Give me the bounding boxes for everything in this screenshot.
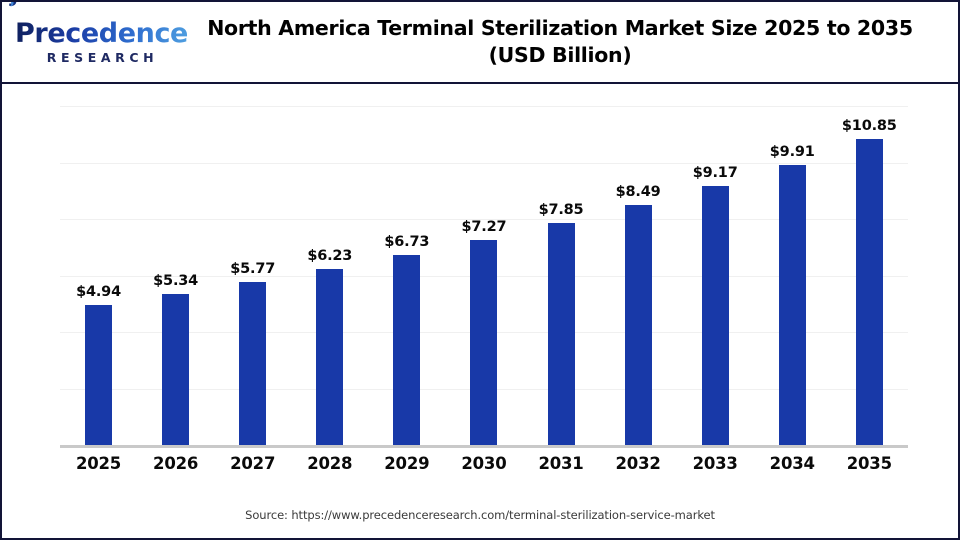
- chart-title: North America Terminal Sterilization Mar…: [188, 15, 932, 69]
- chart-footer: Source: https://www.precedenceresearch.c…: [2, 506, 958, 524]
- bar-value-label: $5.77: [230, 261, 275, 277]
- bar-value-label: $4.94: [76, 284, 121, 300]
- bar-2034[interactable]: [779, 165, 806, 445]
- bar-value-label: $5.34: [153, 273, 198, 289]
- x-axis-labels: 2025202620272028202920302031203220332034…: [60, 454, 908, 480]
- x-tick-2026: 2026: [137, 454, 214, 473]
- x-tick-2028: 2028: [291, 454, 368, 473]
- x-axis-line: [60, 445, 908, 448]
- bar-column[interactable]: $6.73: [368, 106, 445, 445]
- x-tick-2035: 2035: [831, 454, 908, 473]
- bar-column[interactable]: $9.17: [677, 106, 754, 445]
- chart-card: Precedence RESEARCH North America Termin…: [0, 0, 960, 540]
- bar-column[interactable]: $7.85: [523, 106, 600, 445]
- x-tick-2030: 2030: [445, 454, 522, 473]
- bar-value-label: $6.23: [307, 248, 352, 264]
- bar-2031[interactable]: [548, 223, 575, 445]
- bar-2032[interactable]: [625, 205, 652, 445]
- bar-column[interactable]: $5.34: [137, 106, 214, 445]
- plot-area: $4.94$5.34$5.77$6.23$6.73$7.27$7.85$8.49…: [60, 106, 908, 446]
- source-link[interactable]: Source: https://www.precedenceresearch.c…: [245, 508, 715, 522]
- logo-wordmark: Precedence: [8, 20, 188, 47]
- bar-column[interactable]: $4.94: [60, 106, 137, 445]
- x-tick-2025: 2025: [60, 454, 137, 473]
- bar-value-label: $9.91: [770, 144, 815, 160]
- bar-column[interactable]: $8.49: [600, 106, 677, 445]
- bar-2025[interactable]: [85, 305, 112, 445]
- precedence-research-logo: Precedence RESEARCH: [2, 20, 182, 65]
- bar-2035[interactable]: [856, 139, 883, 446]
- bar-2033[interactable]: [702, 186, 729, 445]
- bar-2027[interactable]: [239, 282, 266, 445]
- bar-2030[interactable]: [470, 240, 497, 445]
- bar-series: $4.94$5.34$5.77$6.23$6.73$7.27$7.85$8.49…: [60, 106, 908, 445]
- bar-column[interactable]: $6.23: [291, 106, 368, 445]
- bar-value-label: $9.17: [693, 165, 738, 181]
- bar-2029[interactable]: [393, 255, 420, 445]
- bar-value-label: $7.85: [539, 202, 584, 218]
- x-tick-2033: 2033: [677, 454, 754, 473]
- bar-column[interactable]: $9.91: [754, 106, 831, 445]
- chart-title-container: North America Terminal Sterilization Mar…: [182, 15, 958, 69]
- x-tick-2034: 2034: [754, 454, 831, 473]
- bar-value-label: $8.49: [616, 184, 661, 200]
- chart-header: Precedence RESEARCH North America Termin…: [2, 2, 958, 84]
- bar-value-label: $6.73: [384, 234, 429, 250]
- bar-value-label: $7.27: [461, 219, 506, 235]
- x-tick-2029: 2029: [368, 454, 445, 473]
- bar-column[interactable]: $10.85: [831, 106, 908, 445]
- precedence-leaf-icon: [3, 0, 18, 12]
- x-tick-2027: 2027: [214, 454, 291, 473]
- x-tick-2032: 2032: [600, 454, 677, 473]
- bar-value-label: $10.85: [842, 118, 897, 134]
- bar-column[interactable]: $7.27: [445, 106, 522, 445]
- bar-2026[interactable]: [162, 294, 189, 445]
- bar-2028[interactable]: [316, 269, 343, 445]
- x-tick-2031: 2031: [523, 454, 600, 473]
- bar-column[interactable]: $5.77: [214, 106, 291, 445]
- logo-subtitle: RESEARCH: [38, 50, 158, 65]
